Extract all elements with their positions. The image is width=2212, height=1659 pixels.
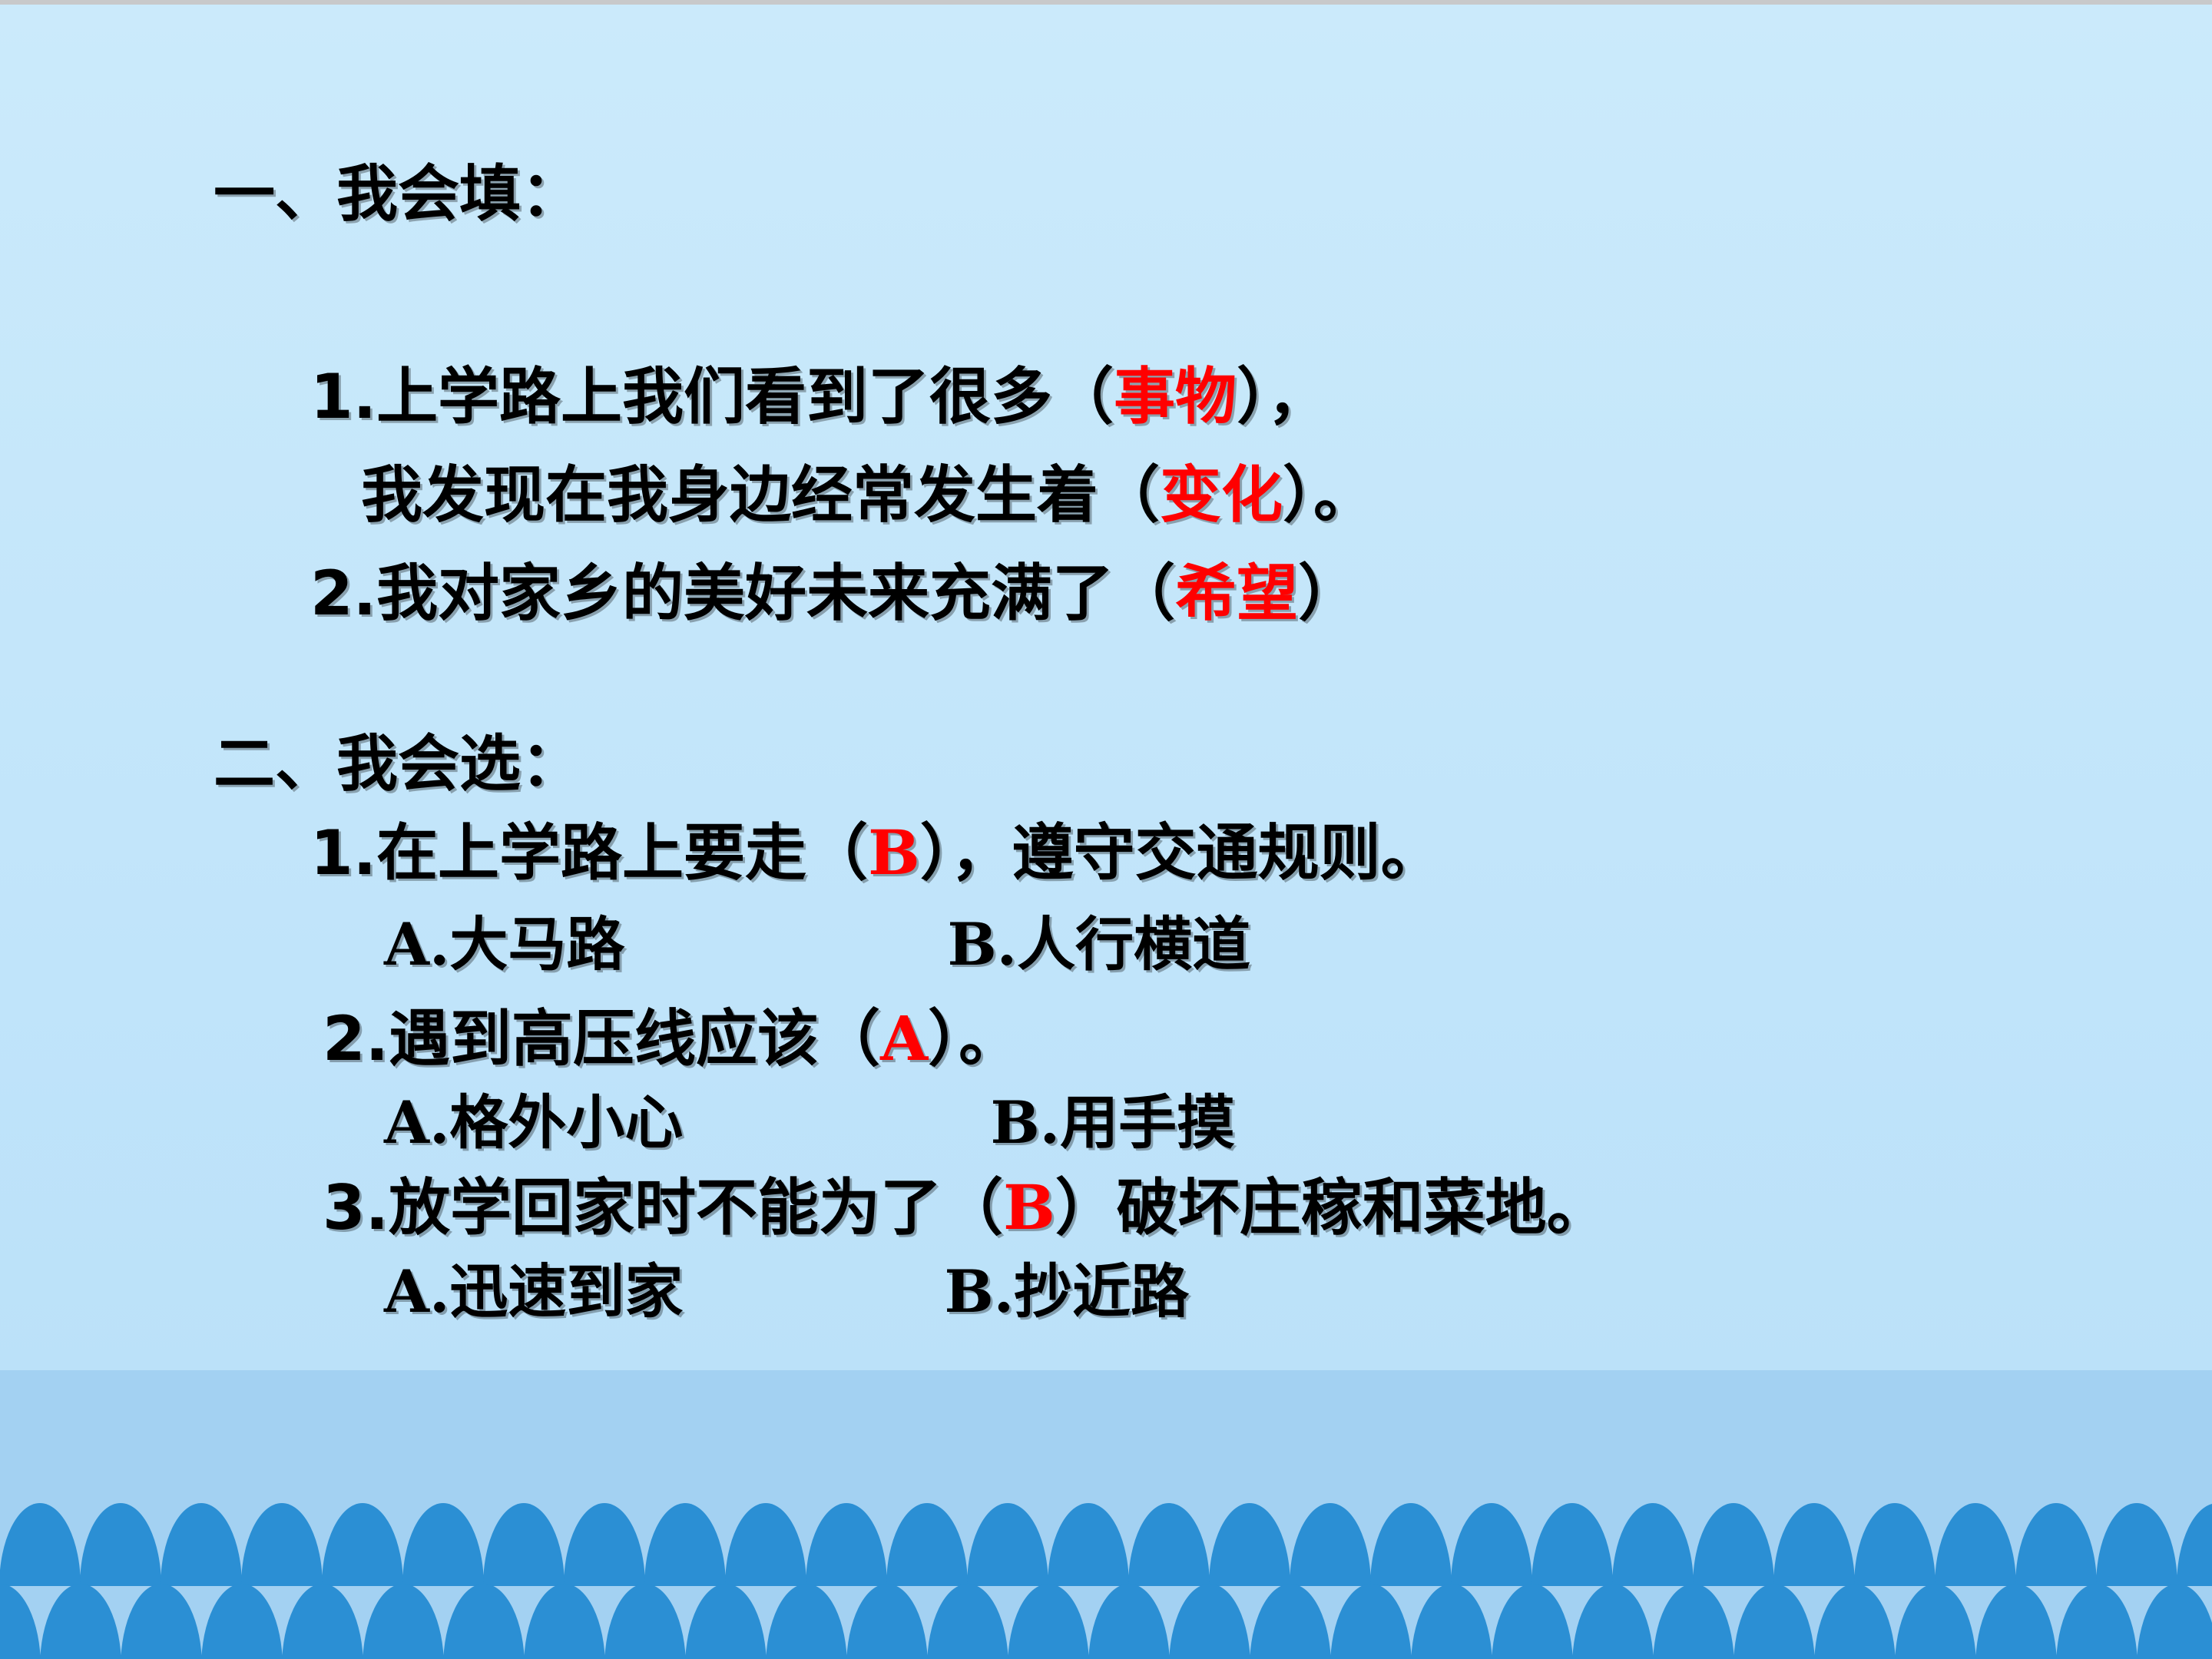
choice-question-3-options: A.迅速到家B.抄近路 xyxy=(384,1244,1189,1329)
choice-question-3-text-before: 放学回家时不能为了（ xyxy=(389,1171,1003,1243)
choice-question-2-option-a[interactable]: A.格外小心 xyxy=(384,1088,683,1157)
choice-question-3-option-a[interactable]: A.迅速到家 xyxy=(384,1257,683,1326)
section-1-heading: 一、我会填： xyxy=(214,144,582,233)
fill-question-2-number: 2. xyxy=(310,558,376,629)
choice-question-1-number: 1. xyxy=(310,817,376,889)
fill-question-1-answer: 事物 xyxy=(1114,360,1237,432)
choice-question-3-number: 3. xyxy=(323,1172,389,1243)
choice-question-2-options: A.格外小心B.用手摸 xyxy=(384,1075,1235,1160)
fill-question-1b-answer: 变化 xyxy=(1160,459,1283,531)
choice-question-1-text-after: ），遵守交通规则。 xyxy=(920,816,1442,889)
choice-question-2-number: 2. xyxy=(323,1003,389,1075)
choice-question-1-line: 1.在上学路上要走（B），遵守交通规则。 xyxy=(310,803,1442,892)
slide-content: 一、我会填： 1.上学路上我们看到了很多（事物）， 我发现在我身边经常发生着（变… xyxy=(0,0,2212,1370)
scallop-shapes-top xyxy=(0,1502,2212,1586)
choice-question-1-answer: B xyxy=(868,816,920,889)
fill-question-1b-text-after: ）。 xyxy=(1283,459,1375,531)
choice-question-3-text-after: ）破坏庄稼和菜地。 xyxy=(1055,1171,1608,1243)
slide-canvas: 一、我会填： 1.上学路上我们看到了很多（事物）， 我发现在我身边经常发生着（变… xyxy=(0,0,2212,1659)
fill-question-1-text-after: ）， xyxy=(1237,360,1329,432)
choice-question-3-answer: B xyxy=(1003,1171,1055,1243)
choice-question-1-text-before: 在上学路上要走（ xyxy=(376,816,868,889)
fill-question-2-answer: 希望 xyxy=(1175,557,1298,629)
scallop-row-top xyxy=(0,1502,2212,1586)
choice-question-1-options: A.大马路B.人行横道 xyxy=(384,897,1250,982)
choice-question-3-option-b[interactable]: B.抄近路 xyxy=(944,1257,1189,1326)
choice-question-2-text-after: ）。 xyxy=(928,1002,1020,1075)
fill-question-1-number: 1. xyxy=(310,361,376,432)
choice-question-3-line: 3.放学回家时不能为了（B）破坏庄稼和菜地。 xyxy=(323,1158,1608,1247)
choice-question-1-option-a[interactable]: A.大马路 xyxy=(384,910,624,979)
choice-question-2-option-b[interactable]: B.用手摸 xyxy=(990,1088,1235,1157)
choice-question-1-option-b[interactable]: B.人行横道 xyxy=(947,910,1250,979)
scallop-shapes-bottom xyxy=(0,1582,2212,1659)
fill-question-1-line-1: 1.上学路上我们看到了很多（事物）， xyxy=(310,347,1329,436)
choice-question-2-text-before: 遇到高压线应该（ xyxy=(389,1002,880,1075)
bottom-decoration-band xyxy=(0,1370,2212,1659)
scallop-row-bottom xyxy=(0,1582,2212,1659)
fill-question-2-text-before: 我对家乡的美好未来充满了（ xyxy=(376,557,1175,629)
section-2-heading: 二、我会选： xyxy=(214,714,582,803)
fill-question-1-text-before: 上学路上我们看到了很多（ xyxy=(376,360,1114,432)
fill-question-2-line: 2.我对家乡的美好未来充满了（希望） xyxy=(310,544,1359,633)
fill-question-1b-text-before: 我发现在我身边经常发生着（ xyxy=(361,459,1160,531)
choice-question-2-answer: A xyxy=(880,1002,928,1075)
fill-question-2-text-after: ） xyxy=(1298,557,1359,629)
choice-question-2-line: 2.遇到高压线应该（A）。 xyxy=(323,989,1020,1078)
fill-question-1-line-2: 我发现在我身边经常发生着（变化）。 xyxy=(361,445,1375,535)
